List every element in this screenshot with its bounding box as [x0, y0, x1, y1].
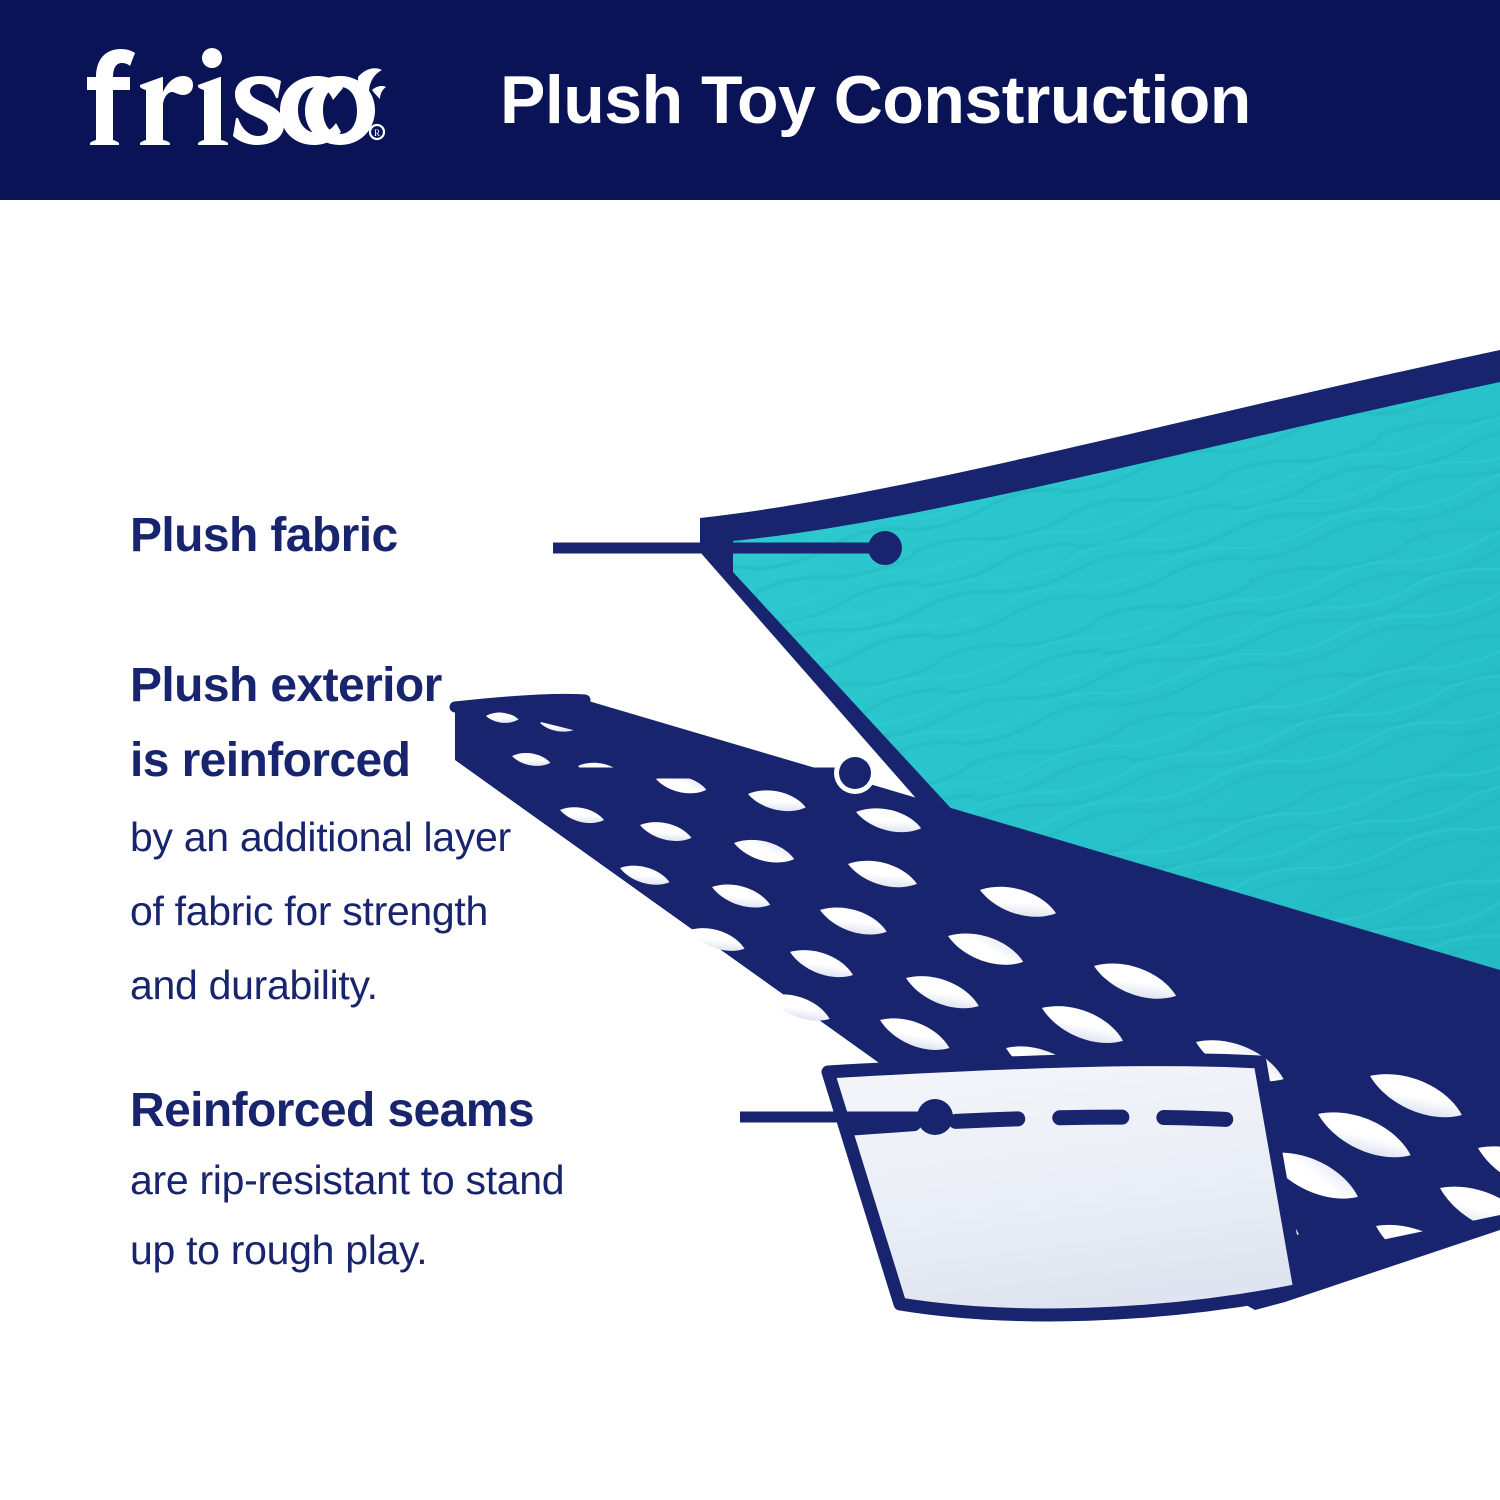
callout-reinforced-seams-body-line2: up to rough play. — [130, 1216, 830, 1284]
callout-plush-exterior: Plush exterior is reinforced by an addit… — [130, 648, 730, 1020]
callout-plush-exterior-body-line3: and durability. — [130, 950, 730, 1020]
callout-plush-exterior-heading-line2: is reinforced — [130, 723, 730, 798]
leader-dot-plush-exterior — [839, 757, 871, 789]
callout-reinforced-seams: Reinforced seams are rip-resistant to st… — [130, 1078, 830, 1284]
callout-reinforced-seams-heading: Reinforced seams — [130, 1078, 830, 1144]
svg-text:R: R — [374, 128, 380, 138]
header-bar: R Plush Toy Construction — [0, 0, 1500, 200]
callout-plush-exterior-body-line2: of fabric for strength — [130, 876, 730, 946]
callout-plush-fabric: Plush fabric — [130, 505, 398, 567]
callout-reinforced-seams-body-line1: are rip-resistant to stand — [130, 1146, 830, 1214]
leader-dot-reinforced-seams — [917, 1099, 953, 1135]
frisco-wordmark-icon: R — [86, 44, 386, 154]
frisco-logo: R — [86, 44, 386, 154]
callout-plush-exterior-body-line1: by an additional layer — [130, 802, 730, 872]
page-title: Plush Toy Construction — [500, 40, 1400, 160]
callout-plush-exterior-heading-line1: Plush exterior — [130, 648, 730, 723]
leader-dot-plush-fabric — [868, 531, 902, 565]
seam-flap — [828, 1060, 1300, 1315]
callout-plush-fabric-heading: Plush fabric — [130, 505, 398, 567]
